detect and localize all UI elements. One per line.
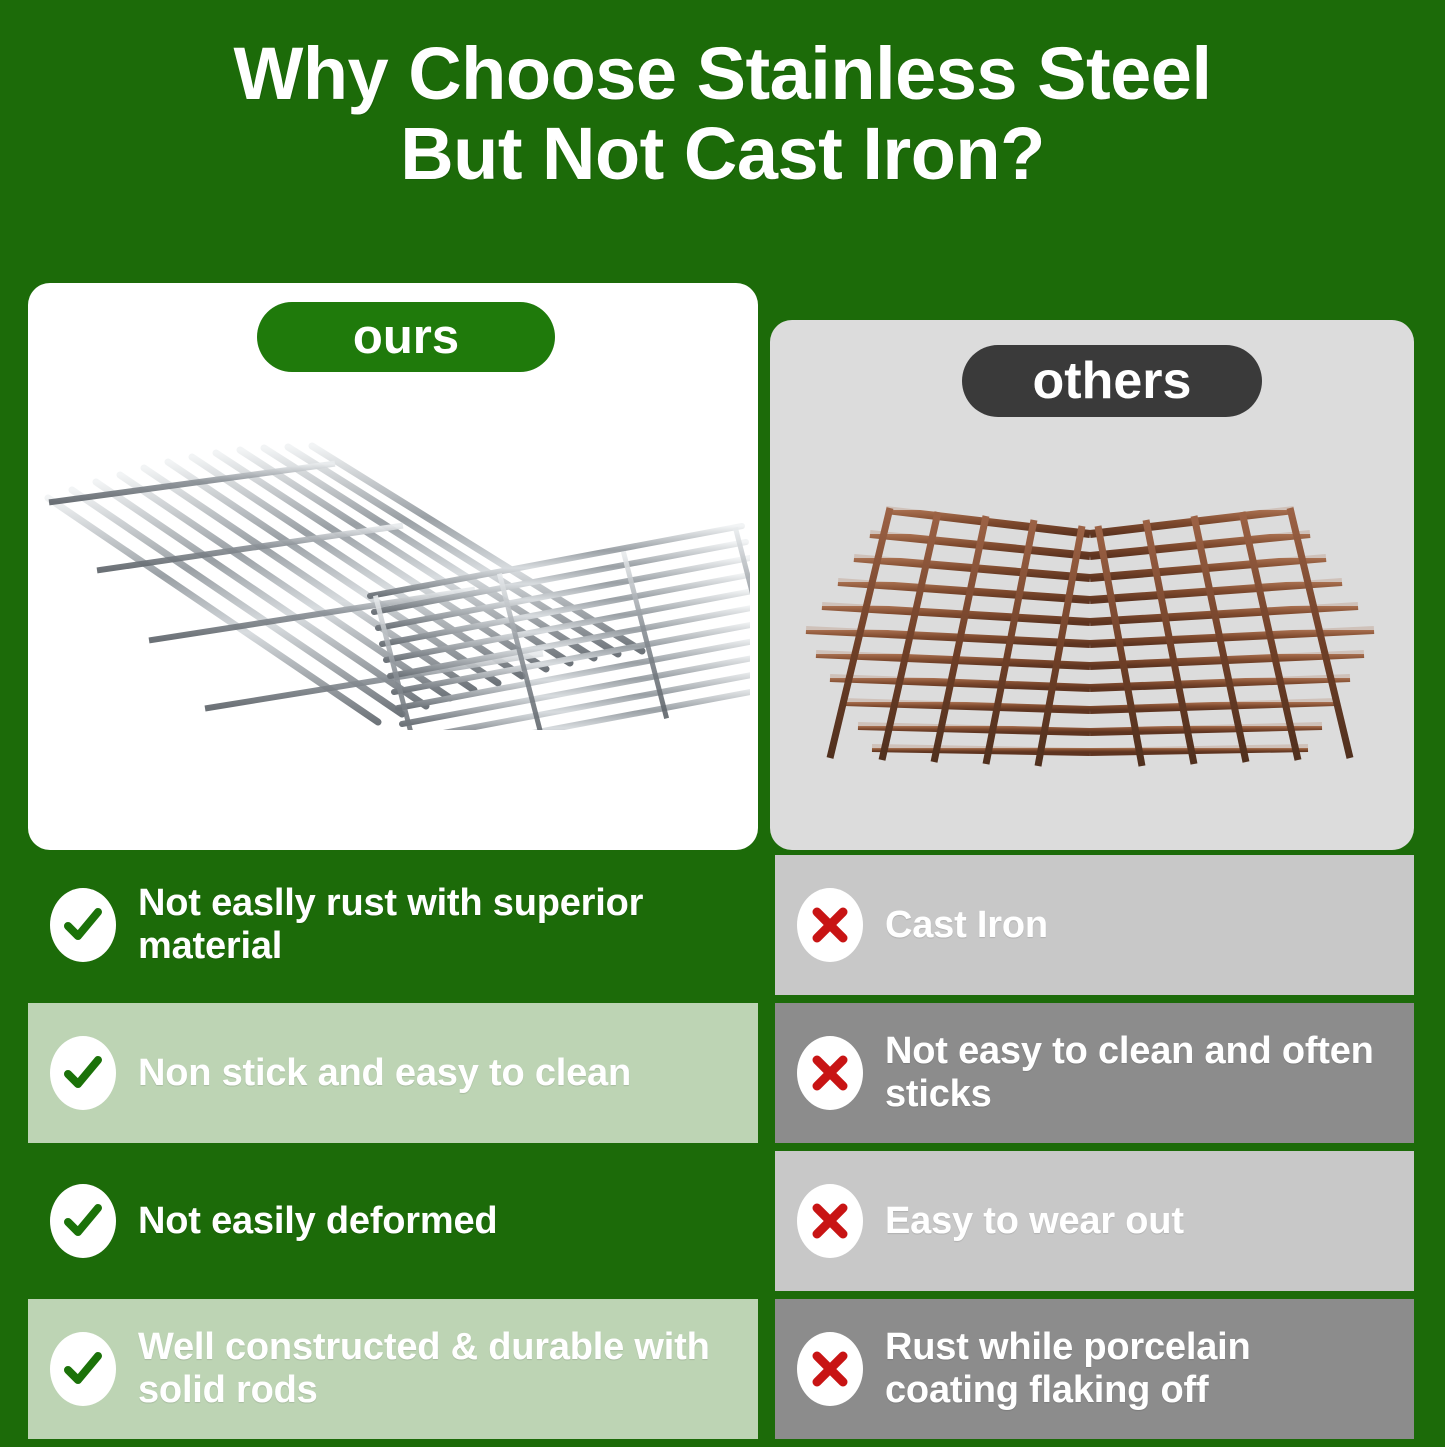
check-icon xyxy=(50,888,116,962)
list-item: Rust while porcelain coating flaking off xyxy=(775,1299,1414,1439)
list-item: Non stick and easy to clean xyxy=(28,1003,758,1143)
check-icon xyxy=(50,1184,116,1258)
list-item: Cast Iron xyxy=(775,855,1414,995)
list-item: Not easily deformed xyxy=(28,1151,758,1291)
list-item-label: Well constructed & durable with solid ro… xyxy=(138,1326,738,1411)
list-item-label: Non stick and easy to clean xyxy=(138,1052,631,1095)
badge-others-label: others xyxy=(1033,355,1192,407)
list-item-label: Not easily deformed xyxy=(138,1200,497,1243)
list-item: Not easy to clean and often sticks xyxy=(775,1003,1414,1143)
badge-ours-label: ours xyxy=(353,313,459,362)
list-item-label: Cast Iron xyxy=(885,904,1048,947)
page-title: Why Choose Stainless Steel But Not Cast … xyxy=(0,34,1445,194)
check-icon xyxy=(50,1036,116,1110)
cross-icon xyxy=(797,888,863,962)
list-item: Well constructed & durable with solid ro… xyxy=(28,1299,758,1439)
list-item-label: Not easlly rust with superior material xyxy=(138,882,738,967)
page-title-line-2: But Not Cast Iron? xyxy=(0,114,1445,194)
check-icon xyxy=(50,1332,116,1406)
list-item-label: Easy to wear out xyxy=(885,1200,1184,1243)
list-item-label: Not easy to clean and often sticks xyxy=(885,1030,1394,1115)
page-title-line-1: Why Choose Stainless Steel xyxy=(0,34,1445,114)
list-item-label: Rust while porcelain coating flaking off xyxy=(885,1326,1394,1411)
badge-others: others xyxy=(962,345,1262,417)
others-feature-list: Cast Iron Not easy to clean and often st… xyxy=(775,855,1414,1447)
cross-icon xyxy=(797,1184,863,1258)
cross-icon xyxy=(797,1036,863,1110)
badge-ours: ours xyxy=(257,302,555,372)
ours-feature-list: Not easlly rust with superior material N… xyxy=(28,855,758,1447)
cross-icon xyxy=(797,1332,863,1406)
list-item: Easy to wear out xyxy=(775,1151,1414,1291)
list-item: Not easlly rust with superior material xyxy=(28,855,758,995)
